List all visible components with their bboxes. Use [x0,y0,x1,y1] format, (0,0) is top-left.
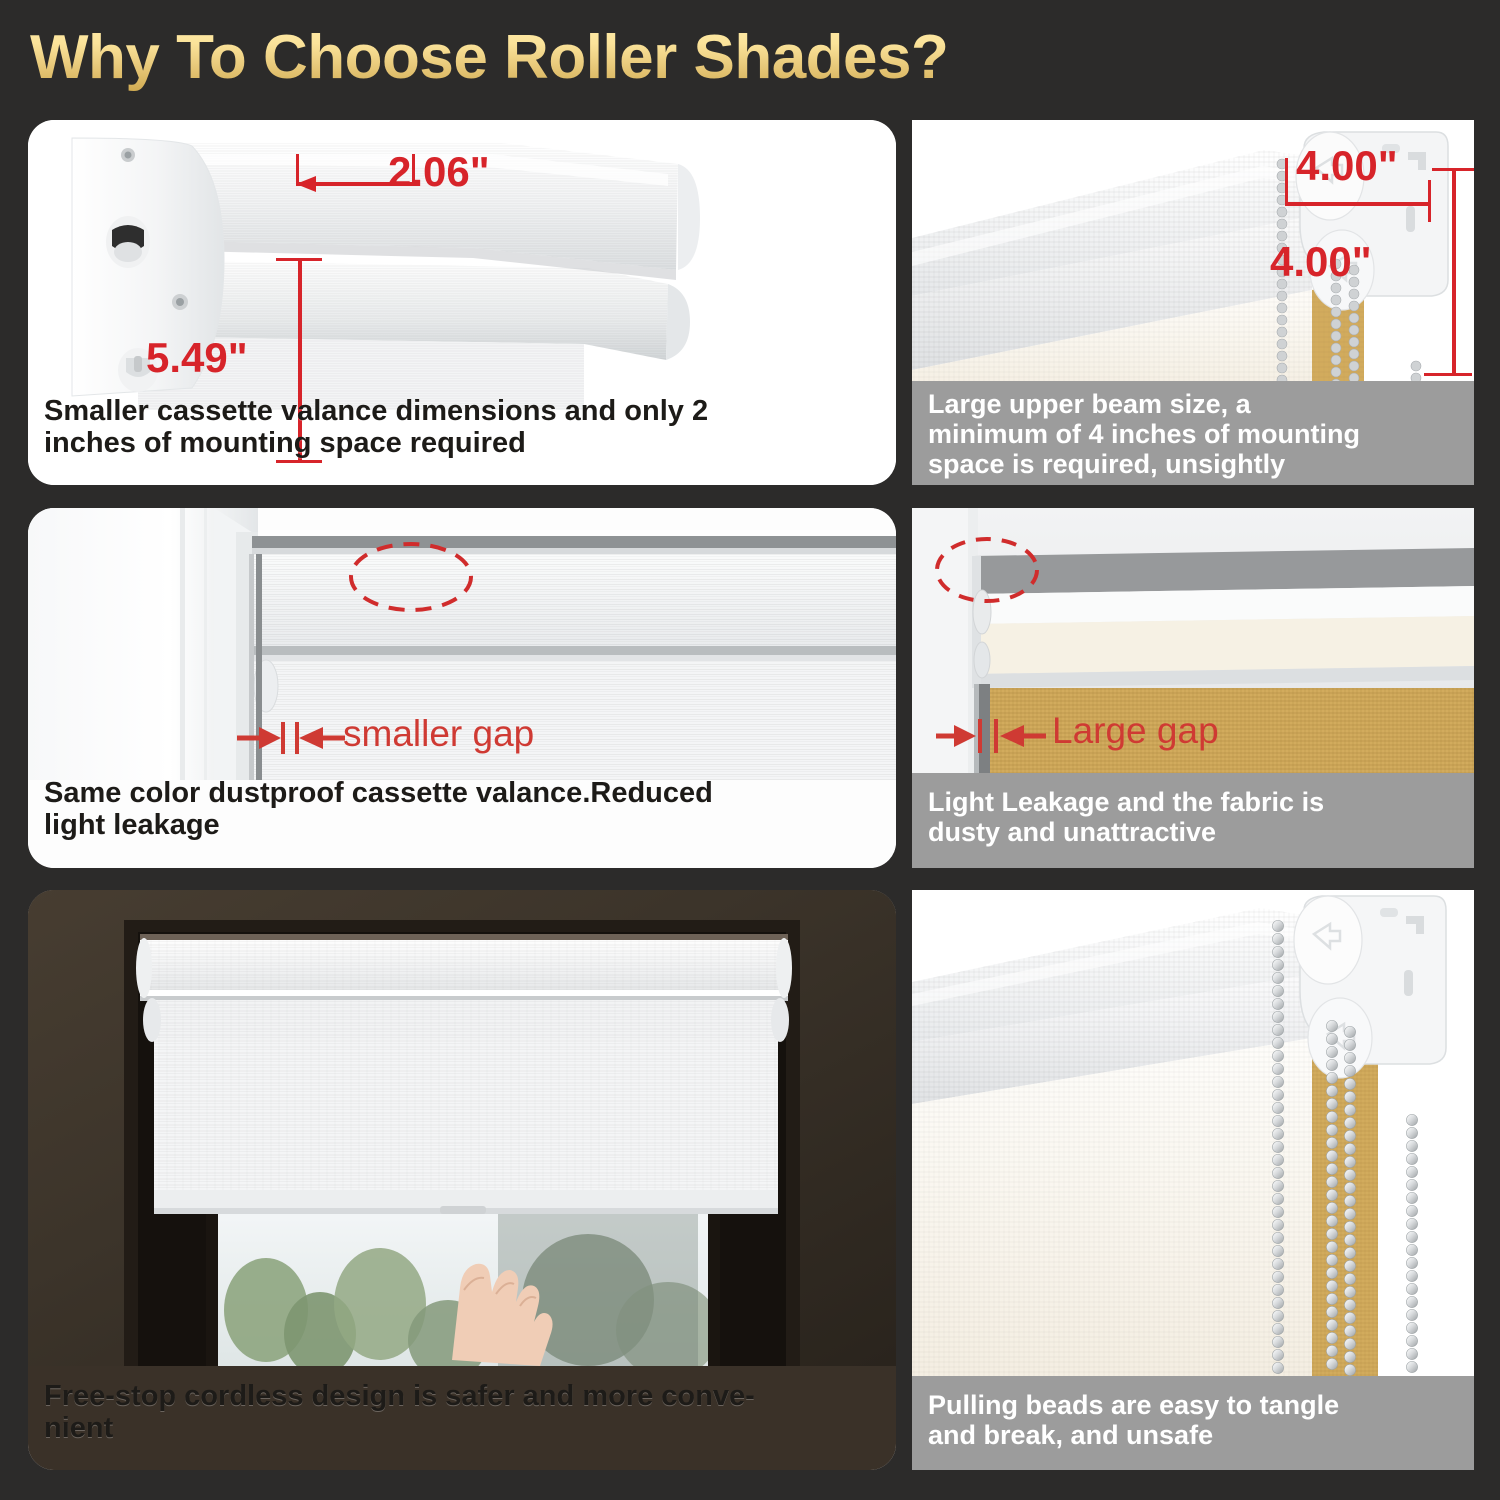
caption-line: Large upper beam size, a [928,389,1458,419]
caption-line: Free-stop cordless design is safer and m… [44,1380,880,1412]
caption-line: Smaller cassette valance dimensions and … [44,395,880,427]
beam-height-tick-top [1432,168,1474,171]
width-dimension-label: 2.06" [388,148,490,196]
panel-bottom-right-caption: Pulling beads are easy to tangle and bre… [912,1376,1474,1470]
page-title: Why To Choose Roller Shades? [30,22,948,93]
beam-height-label: 4.00" [1270,238,1372,286]
height-dim-tick-top [276,258,322,261]
caption-line: light leakage [44,809,880,841]
caption-line: Light Leakage and the fabric is [928,787,1458,817]
panel-middle-right: Large gap Light Leakage and the fabric i… [912,508,1474,868]
width-dim-arrow-left [296,175,320,193]
room-window-scene-illustration [28,890,896,1366]
caption-line: Same color dustproof cassette valance.Re… [44,777,880,809]
caption-line: minimum of 4 inches of mounting [928,419,1458,449]
panel-bottom-left-caption: Free-stop cordless design is safer and m… [28,1366,896,1470]
caption-line: Pulling beads are easy to tangle [928,1390,1458,1420]
panel-top-left: 2.06" 5.49" Smaller cassette valance dim… [28,120,896,485]
panel-top-right: 4.00" 4.00" Large upper beam size, a min… [912,120,1474,485]
caption-line: dusty and unattractive [928,817,1458,847]
panel-top-left-caption: Smaller cassette valance dimensions and … [28,381,896,485]
caption-line: nient [44,1412,880,1444]
beam-height-tick-bottom [1424,373,1472,376]
beam-width-tick-right [1428,180,1431,222]
large-gap-label: Large gap [1052,710,1219,752]
panel-middle-right-caption: Light Leakage and the fabric is dusty an… [912,773,1474,868]
panel-middle-left-caption: Same color dustproof cassette valance.Re… [28,763,896,868]
gap-highlight-ellipse-icon [932,534,1042,606]
panel-top-right-caption: Large upper beam size, a minimum of 4 in… [912,381,1474,485]
smaller-gap-label: smaller gap [343,713,534,755]
beam-width-tick-left [1285,158,1288,206]
caption-line: space is required, unsightly [928,449,1458,479]
panel-bottom-right: Pulling beads are easy to tangle and bre… [912,890,1474,1470]
caption-line: inches of mounting space required [44,427,880,459]
beam-height-dim-line [1452,170,1456,376]
caption-line: and break, and unsafe [928,1420,1458,1450]
panel-middle-left: smaller gap Same color dustproof cassett… [28,508,896,868]
beam-width-label: 4.00" [1296,142,1398,190]
beaded-chain-shade-illustration [912,890,1474,1376]
panel-bottom-left: Free-stop cordless design is safer and m… [28,890,896,1470]
beam-width-dim-line [1286,202,1430,206]
gap-highlight-ellipse-icon [346,539,476,615]
height-dimension-label: 5.49" [146,334,248,382]
